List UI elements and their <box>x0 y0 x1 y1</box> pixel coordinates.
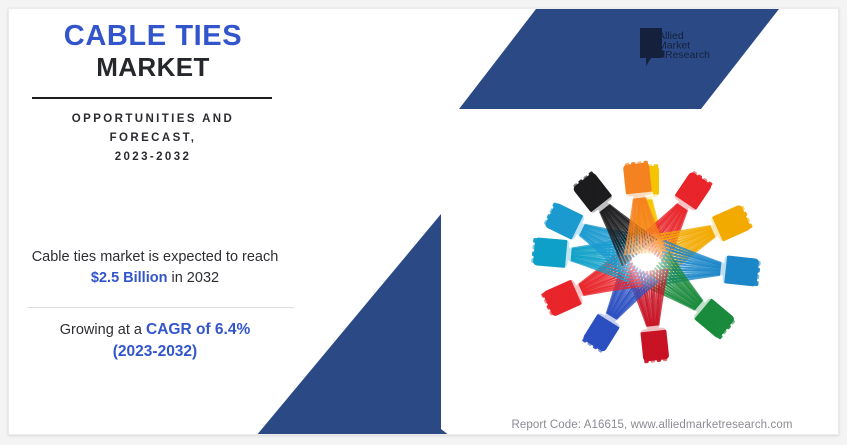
stat-two-prefix: Growing at a <box>60 322 146 338</box>
logo-bar-2 <box>643 41 656 48</box>
stat-two-period: (2023-2032) <box>113 343 197 360</box>
subtitle-line-1: OPPORTUNITIES AND <box>9 110 297 129</box>
logo-bar-3 <box>643 51 665 58</box>
infographic-card: CABLE TIES MARKET OPPORTUNITIES AND FORE… <box>8 8 839 435</box>
subtitle-block: OPPORTUNITIES AND FORECAST, 2023-2032 <box>9 110 297 167</box>
stat-two-value: CAGR of 6.4% <box>146 321 250 338</box>
stat-one-suffix: in 2032 <box>167 270 219 286</box>
stats-divider <box>27 307 294 308</box>
stat-one-value: $2.5 Billion <box>91 270 168 286</box>
logo-text-research: Research <box>665 49 710 61</box>
stat-cagr: Growing at a CAGR of 6.4%(2023-2032) <box>21 319 289 363</box>
stat-one-prefix: Cable ties market is expected to reach <box>32 249 279 265</box>
infographic-canvas: CABLE TIES MARKET OPPORTUNITIES AND FORE… <box>0 0 847 445</box>
page-title: CABLE TIES MARKET <box>9 21 297 83</box>
navy-parallelogram-top-right <box>459 9 779 109</box>
subtitle-line-3: 2023-2032 <box>9 148 297 167</box>
title-main: CABLE TIES <box>9 21 297 51</box>
title-sub: MARKET <box>9 52 297 83</box>
title-divider <box>32 97 272 99</box>
cable-ties-photo <box>457 137 835 385</box>
allied-market-research-logo: Allied Market Research <box>638 26 714 70</box>
left-content-panel: CABLE TIES MARKET OPPORTUNITIES AND FORE… <box>9 9 309 435</box>
logo-bar-1 <box>643 32 651 39</box>
stat-market-value: Cable ties market is expected to reach $… <box>21 247 289 288</box>
subtitle-line-2: FORECAST, <box>9 129 297 148</box>
footer-report-code: Report Code: A16615, www.alliedmarketres… <box>477 419 827 431</box>
